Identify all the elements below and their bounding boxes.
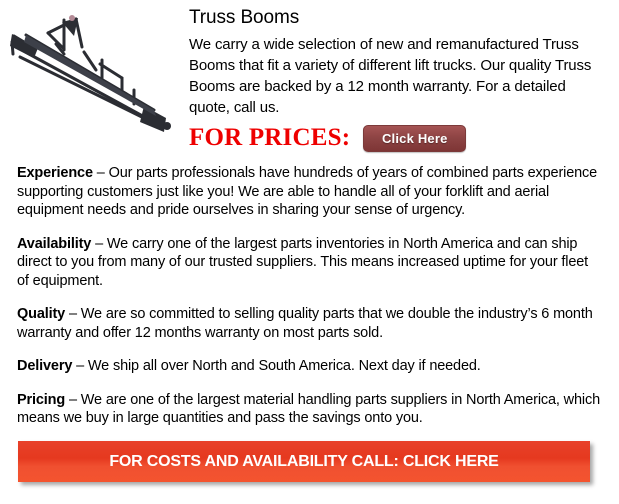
feature-availability: Availability – We carry one of the large…	[17, 235, 603, 291]
for-prices-label: FOR PRICES:	[189, 124, 350, 152]
feature-delivery: Delivery – We ship all over North and So…	[17, 357, 603, 376]
feature-dash: –	[65, 392, 81, 408]
feature-term: Pricing	[17, 392, 65, 408]
feature-term: Quality	[17, 306, 65, 322]
cta-call-button[interactable]: FOR COSTS AND AVAILABILITY CALL: CLICK H…	[18, 441, 590, 482]
product-description: We carry a wide selection of new and rem…	[189, 34, 609, 118]
cta-wrapper: FOR COSTS AND AVAILABILITY CALL: CLICK H…	[18, 441, 590, 482]
prices-row: FOR PRICES: Click Here	[189, 124, 466, 152]
feature-dash: –	[65, 306, 81, 322]
cta-label: FOR COSTS AND AVAILABILITY CALL: CLICK H…	[109, 453, 498, 471]
product-header: Truss Booms We carry a wide selection of…	[0, 0, 619, 160]
feature-term: Delivery	[17, 358, 72, 374]
feature-term: Availability	[17, 236, 91, 252]
page-title: Truss Booms	[189, 6, 609, 30]
feature-dash: –	[91, 236, 107, 252]
header-copy: Truss Booms We carry a wide selection of…	[189, 0, 609, 118]
click-here-button[interactable]: Click Here	[363, 125, 466, 152]
feature-experience: Experience – Our parts professionals hav…	[17, 164, 603, 220]
feature-text: We ship all over North and South America…	[88, 358, 481, 374]
feature-text: We are one of the largest material handl…	[17, 392, 600, 427]
feature-quality: Quality – We are so committed to selling…	[17, 305, 603, 342]
feature-text: We are so committed to selling quality p…	[17, 306, 593, 341]
product-image	[4, 2, 184, 157]
feature-term: Experience	[17, 165, 93, 181]
feature-dash: –	[72, 358, 88, 374]
feature-dash: –	[93, 165, 109, 181]
feature-pricing: Pricing – We are one of the largest mate…	[17, 391, 603, 428]
features-list: Experience – Our parts professionals hav…	[17, 164, 603, 428]
